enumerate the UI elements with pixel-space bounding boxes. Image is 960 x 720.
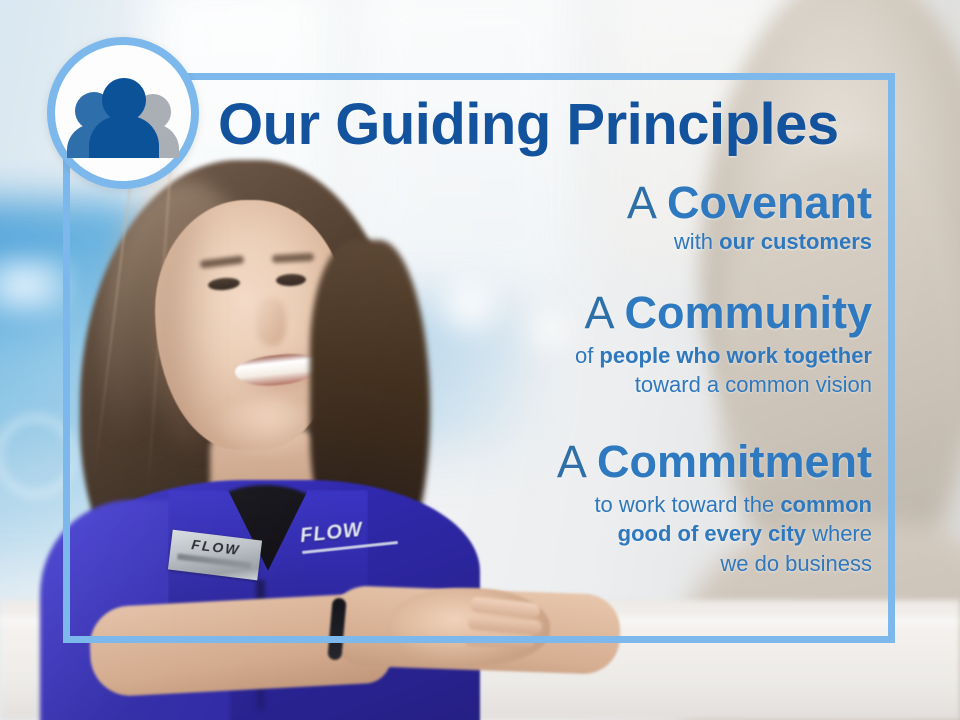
principle-word: Covenant bbox=[667, 177, 872, 228]
principle-article: A bbox=[584, 287, 612, 338]
principle-body-line: good of every city where bbox=[300, 519, 872, 548]
page-title: Our Guiding Principles bbox=[218, 96, 858, 154]
principle-body: with our customers bbox=[300, 227, 872, 256]
principle-body-line: we do business bbox=[300, 549, 872, 578]
principle-word: Community bbox=[625, 287, 873, 338]
principle-body: to work toward the commongood of every c… bbox=[300, 490, 872, 578]
principle-body-line: of people who work together bbox=[300, 341, 872, 370]
principle-body: of people who work togethertoward a comm… bbox=[300, 341, 872, 400]
principle-body-line: to work toward the common bbox=[300, 490, 872, 519]
guiding-principles-graphic: FLOW FLOW Our Guiding Principles bbox=[0, 0, 960, 720]
principle-body-line: with our customers bbox=[300, 227, 872, 256]
principle-heading: A Commitment bbox=[300, 439, 872, 486]
principle-heading: A Community bbox=[300, 290, 872, 337]
principle-body-line: toward a common vision bbox=[300, 370, 872, 399]
principle-item: A Commitment to work toward the commongo… bbox=[300, 439, 872, 578]
people-group-icon-badge bbox=[47, 37, 199, 189]
principles-list: A Covenant with our customers A Communit… bbox=[300, 180, 872, 592]
principle-word: Commitment bbox=[597, 436, 872, 487]
person-center-body bbox=[89, 116, 159, 158]
people-group-icon bbox=[69, 76, 177, 150]
principle-article: A bbox=[627, 177, 655, 228]
principle-item: A Community of people who work togethert… bbox=[300, 290, 872, 399]
principle-article: A bbox=[557, 436, 585, 487]
principle-item: A Covenant with our customers bbox=[300, 180, 872, 256]
principle-heading: A Covenant bbox=[300, 180, 872, 227]
